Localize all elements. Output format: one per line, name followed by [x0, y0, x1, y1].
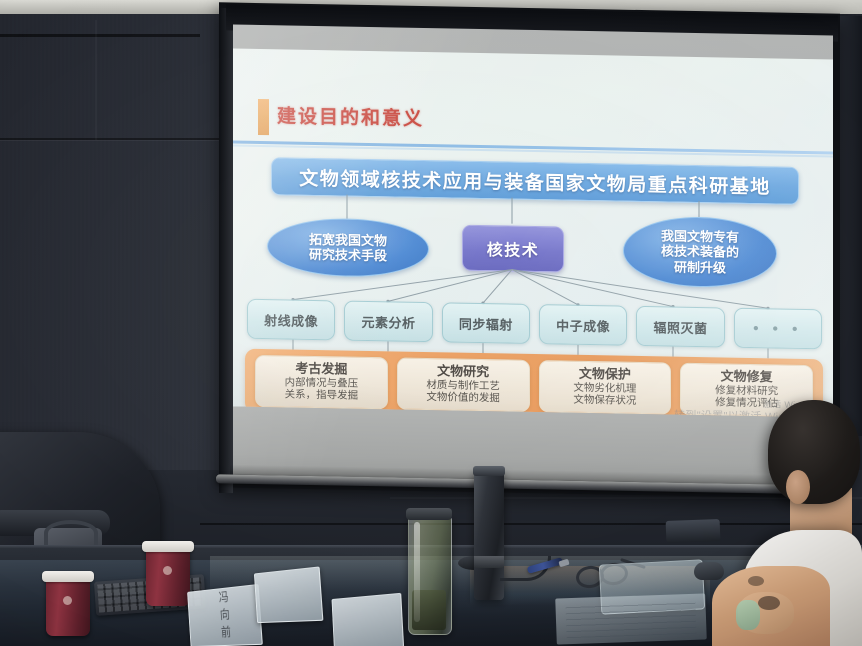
technology-label: 中子成像 [556, 315, 610, 335]
technology-item: 辐照灭菌 [636, 306, 724, 348]
paper-cup-lid [142, 541, 194, 552]
wall-seam [200, 523, 862, 525]
thermos-cap [473, 466, 505, 476]
person-shading [758, 596, 780, 610]
technology-label: 元素分析 [361, 311, 415, 331]
projection-surface: 建设目的和意义 文物领域核技术应用与装备国家文物局重点科研基地 拓宽我国文物 研… [233, 25, 833, 486]
technology-label: 同步辐射 [459, 313, 513, 333]
technology-item: 中子成像 [539, 304, 627, 346]
application-title: 文物修复 [721, 369, 773, 385]
application-item: 文物保护 文物劣化机理 文物保存状况 [539, 360, 672, 414]
technology-label: • • • [753, 320, 802, 338]
mouse [694, 562, 724, 580]
technology-label: 射线成像 [264, 310, 318, 330]
core-technology-label: 核技术 [487, 236, 540, 261]
application-item: 文物研究 材质与制作工艺 文物价值的发掘 [397, 358, 530, 412]
paper-cup-lid [42, 571, 94, 582]
application-item: 考古发掘 内部情况与叠压 关系，指导发掘 [255, 355, 388, 409]
nameplate [254, 566, 323, 623]
device [666, 519, 721, 543]
paper-cup [46, 578, 90, 636]
paper-cup [146, 548, 190, 606]
goal-right-line2: 核技术装备的 [661, 244, 739, 261]
application-title: 文物保护 [579, 367, 631, 383]
application-title: 文物研究 [437, 364, 489, 380]
title-accent-bar [258, 99, 269, 135]
application-title: 考古发掘 [295, 361, 347, 377]
wall-seam [95, 20, 97, 140]
bottle-cap [406, 508, 452, 520]
technology-label: 辐照灭菌 [653, 317, 707, 337]
paper-cup-logo [163, 566, 172, 575]
conference-room-photo: 建设目的和意义 文物领域核技术应用与装备国家文物局重点科研基地 拓宽我国文物 研… [0, 0, 862, 646]
presentation-slide: 建设目的和意义 文物领域核技术应用与装备国家文物局重点科研基地 拓宽我国文物 研… [233, 49, 833, 418]
technology-item: 同步辐射 [442, 302, 530, 344]
bottle-highlight [414, 522, 420, 622]
screen-left-border [219, 8, 233, 493]
core-technology-node: 核技术 [462, 225, 564, 273]
foreground-object [736, 600, 760, 630]
application-desc-line2: 关系，指导发掘 [285, 389, 359, 403]
document-text-lines [565, 602, 696, 639]
person-head [768, 400, 860, 504]
application-desc-line2: 文物价值的发掘 [426, 392, 500, 406]
paper-cup-logo [63, 596, 72, 605]
wall-seam [0, 138, 236, 140]
nameplate: 冯向前 [187, 584, 263, 646]
bag-handle [44, 520, 98, 546]
nameplate [332, 593, 405, 646]
person-ear [786, 470, 810, 504]
person-shading [748, 576, 764, 586]
nameplate-text: 冯向前 [214, 590, 232, 643]
technology-item: 元素分析 [344, 301, 432, 343]
wall-seam [0, 34, 200, 37]
application-desc-line2: 文物保存状况 [573, 394, 636, 408]
slide-title: 建设目的和意义 [277, 101, 424, 131]
technology-item-ellipsis: • • • [734, 308, 822, 350]
goal-left-line1: 拓宽我国文物 [309, 232, 387, 249]
technology-item: 射线成像 [247, 299, 335, 341]
goal-left-line2: 研究技术手段 [309, 247, 387, 264]
